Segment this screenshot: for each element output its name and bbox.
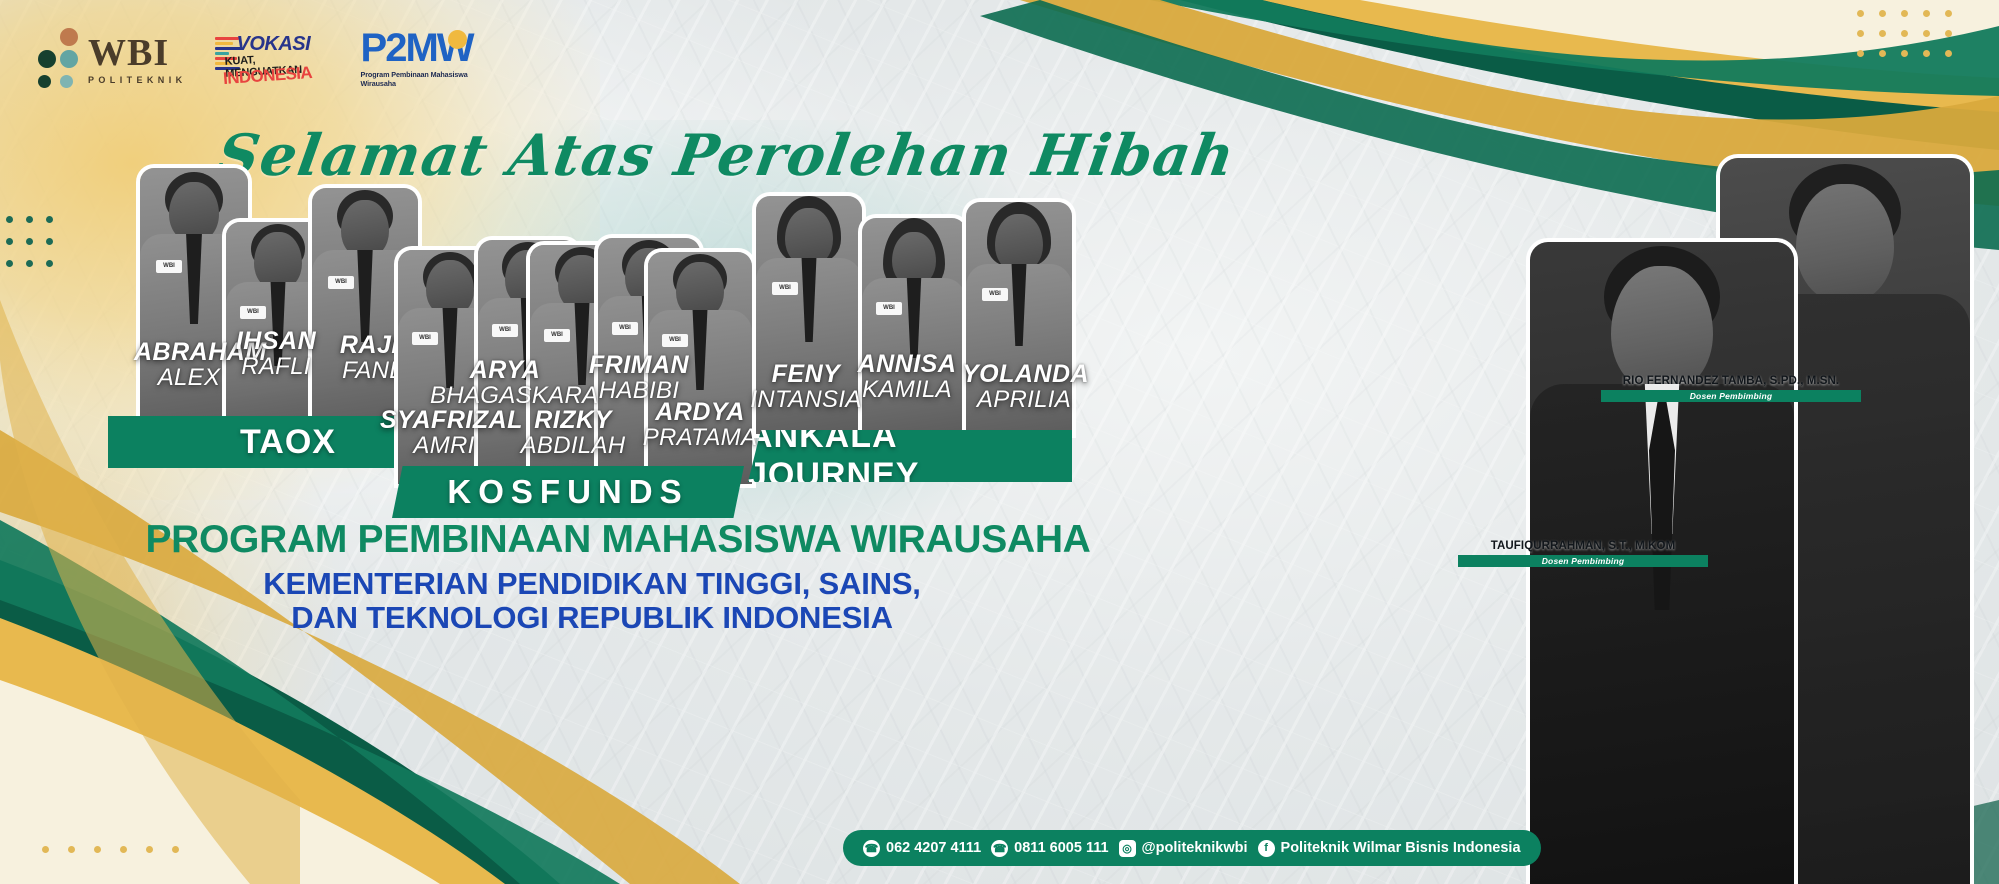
contact-instagram-value: @politeknikwbi (1142, 840, 1248, 856)
member-firstname: FRIMAN (578, 353, 700, 379)
contact-phone-2-value: 0811 6005 111 (1014, 840, 1108, 856)
member-firstname: IHSAN (231, 329, 321, 355)
member-firstname: RIZKY (510, 408, 636, 434)
member-lastname: RAFLI (231, 355, 321, 379)
p2mw-logo-subtitle: Program Pembinaan Mahasiswa Wirausaha (361, 70, 493, 88)
advisor-role: Dosen Pembimbing (1458, 555, 1708, 567)
contact-phone-1[interactable]: ☎ 062 4207 4111 (863, 840, 981, 857)
member-firstname: ABRAHAM (134, 340, 244, 366)
member-name-arya: ARYA BHAGASKARA (430, 358, 580, 408)
member-name-abraham: ABRAHAM ALEX (134, 340, 244, 390)
member-name-feny: FENY INTANSIA (750, 362, 862, 412)
wbi-logo-name: WBI (88, 34, 187, 72)
contact-phone-2[interactable]: ☎ 0811 6005 111 (991, 840, 1108, 857)
advisor-label-rio: RIO FERNANDEZ TAMBA, S.PD., M.SN. Dosen … (1601, 375, 1861, 402)
instagram-icon: ◎ (1119, 840, 1136, 857)
advisor-name: RIO FERNANDEZ TAMBA, S.PD., M.SN. (1601, 375, 1861, 387)
member-lastname: ALEX (134, 366, 244, 390)
banner-root: WBI POLITEKNIK VOKASI KUAT, MENGUATKAN I… (0, 0, 1999, 884)
member-lastname: INTANSIA (750, 388, 862, 412)
member-name-yolanda: YOLANDA APRILIA (962, 362, 1086, 412)
member-firstname: ANNISA (848, 352, 966, 378)
contact-facebook[interactable]: f Politeknik Wilmar Bisnis Indonesia (1258, 840, 1521, 857)
facebook-icon: f (1258, 840, 1275, 857)
dot-grid-top-right (1857, 10, 1967, 70)
member-lastname: KAMILA (848, 378, 966, 402)
page-headline: Selamat Atas Perolehan Hibah (213, 122, 1240, 189)
dot-grid-bottom-left (42, 846, 198, 866)
p2mw-dot-icon (448, 30, 467, 49)
contact-bar: ☎ 062 4207 4111 ☎ 0811 6005 111 ◎ @polit… (843, 830, 1541, 866)
member-firstname: FENY (750, 362, 862, 388)
wbi-dots-icon (38, 28, 78, 90)
phone-icon: ☎ (863, 840, 880, 857)
member-name-syafrizal: SYAFRIZAL AMRI (380, 408, 508, 458)
member-lastname: ABDILAH (510, 434, 636, 458)
member-name-annisa: ANNISA KAMILA (848, 352, 966, 402)
team-band-kosfunds: KOSFUNDS (392, 466, 744, 518)
vokasi-logo: VOKASI KUAT, MENGUATKAN INDONESIA (215, 29, 333, 89)
member-lastname: PRATAMA (638, 426, 762, 450)
advisor-label-taufiqurrahman: TAUFIQURRAHMAN, S.T., M.KOM Dosen Pembim… (1458, 540, 1708, 567)
advisor-role: Dosen Pembimbing (1601, 390, 1861, 402)
logo-row: WBI POLITEKNIK VOKASI KUAT, MENGUATKAN I… (38, 28, 493, 90)
member-firstname: SYAFRIZAL (380, 408, 508, 434)
program-title: PROGRAM PEMBINAAN MAHASISWA WIRAUSAHA (145, 518, 1090, 562)
contact-instagram[interactable]: ◎ @politeknikwbi (1119, 840, 1248, 857)
member-lastname: APRILIA (962, 388, 1086, 412)
advisor-name: TAUFIQURRAHMAN, S.T., M.KOM (1458, 540, 1708, 552)
wbi-logo-subtitle: POLITEKNIK (88, 76, 187, 85)
member-name-friman: FRIMAN HABIBI (578, 353, 700, 403)
contact-phone-1-value: 062 4207 4111 (886, 840, 981, 856)
ministry-line-two: DAN TEKNOLOGI REPUBLIK INDONESIA (291, 600, 893, 636)
phone-icon: ☎ (991, 840, 1008, 857)
dot-grid-left (6, 216, 66, 282)
contact-facebook-value: Politeknik Wilmar Bisnis Indonesia (1281, 840, 1521, 856)
p2mw-logo-name: P2MW (361, 28, 493, 68)
member-name-rizky: RIZKY ABDILAH (510, 408, 636, 458)
team-band-ankala-journey: ANKALA JOURNEY (748, 430, 1072, 482)
member-lastname: AMRI (380, 434, 508, 458)
p2mw-logo: P2MW Program Pembinaan Mahasiswa Wirausa… (361, 28, 493, 90)
member-name-ihsan: IHSAN RAFLI (231, 329, 321, 379)
wbi-logo: WBI POLITEKNIK (38, 28, 187, 90)
member-lastname: BHAGASKARA (430, 384, 580, 408)
member-name-ardya: ARDYA PRATAMA (638, 400, 762, 450)
ministry-line-one: KEMENTERIAN PENDIDIKAN TINGGI, SAINS, (263, 566, 920, 602)
member-firstname: ARYA (430, 358, 580, 384)
member-firstname: ARDYA (638, 400, 762, 426)
member-firstname: YOLANDA (962, 362, 1086, 388)
